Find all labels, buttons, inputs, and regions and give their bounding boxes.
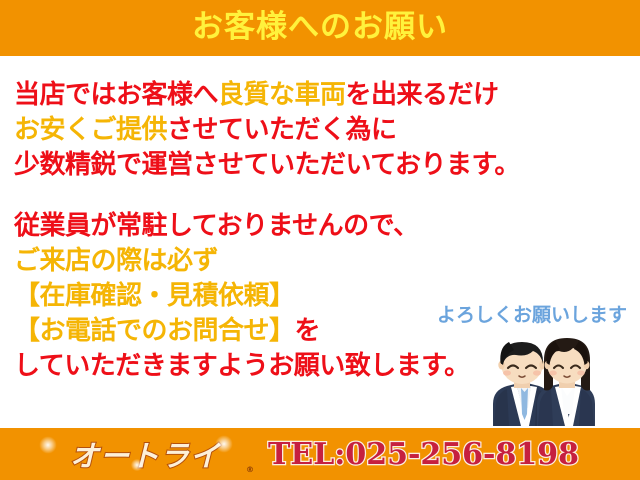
bowing-people-illustration <box>483 330 595 426</box>
copy-segment-highlight: お安くご提供 <box>14 115 167 145</box>
copy-segment: を出来るだけ <box>346 80 499 110</box>
copy-line: ご来店の際は必ず <box>14 244 614 279</box>
copy-segment-highlight: 【お電話でのお問合せ】 <box>14 316 295 346</box>
promo-poster: お客様へのお願い 当店ではお客様へ良質な車両を出来るだけ お安くご提供させていた… <box>0 0 640 480</box>
copy-segment: していただきますようお願い致します。 <box>14 351 470 381</box>
sparkle-icon <box>38 435 58 455</box>
woman-bowing-icon <box>537 338 595 426</box>
copy-segment: を <box>295 316 321 346</box>
copy-segment-highlight: ご来店の際は必ず <box>14 246 218 276</box>
page-title: お客様へのお願い <box>0 0 640 56</box>
company-logo[interactable]: オートライ ® <box>34 434 256 478</box>
copy-segment-highlight: 良質な車両 <box>218 80 346 110</box>
paragraph-1: 当店ではお客様へ良質な車両を出来るだけ お安くご提供させていただく為に 少数精鋭… <box>14 78 614 183</box>
copy-line: 従業員が常駐しておりませんので、 <box>14 209 614 244</box>
sparkle-icon <box>214 434 234 454</box>
phone-number[interactable]: TEL:025-256-8198 <box>268 437 579 472</box>
copy-segment: 従業員が常駐しておりませんので、 <box>14 211 419 241</box>
copy-line: 少数精鋭で運営させていただいております。 <box>14 148 614 183</box>
greeting-text: よろしくお願いします <box>437 300 627 327</box>
sparkle-icon <box>130 458 144 472</box>
copy-line: お安くご提供させていただく為に <box>14 113 614 148</box>
copy-segment: 少数精鋭で運営させていただいております。 <box>14 150 520 180</box>
paragraph-spacer <box>14 183 614 209</box>
copy-segment-highlight: 【在庫確認・見積依頼】 <box>14 281 295 311</box>
copy-segment: 当店ではお客様へ <box>14 80 218 110</box>
copy-segment: させていただく為に <box>167 115 397 145</box>
copy-line: 当店ではお客様へ良質な車両を出来るだけ <box>14 78 614 113</box>
registered-mark-icon: ® <box>246 465 254 474</box>
